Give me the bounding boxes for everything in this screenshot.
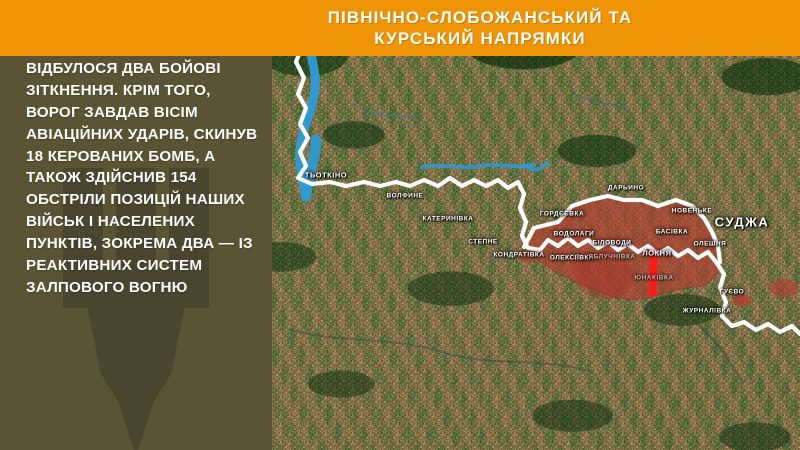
report-body-text: ВІДБУЛОСЯ ДВА БОЙОВІ ЗІТКНЕННЯ. КРІМ ТОГ… (26, 58, 262, 299)
page-title: ПІВНІЧНО-СЛОБОЖАНСЬКИЙ ТА КУРСЬКИЙ НАПРЯ… (168, 7, 633, 50)
page-title-line2: КУРСЬКИЙ НАПРЯМКИ (328, 28, 633, 49)
header-bar: ПІВНІЧНО-СЛОБОЖАНСЬКИЙ ТА КУРСЬКИЙ НАПРЯ… (0, 0, 800, 56)
infographic-page: ТЬОТКІНОВОЛФИНЕКАТЕРИНІВКАСТЕПНЕКОНДРАТІ… (0, 0, 800, 450)
state-border-line (272, 0, 800, 450)
page-title-line1: ПІВНІЧНО-СЛОБОЖАНСЬКИЙ ТА (328, 7, 633, 28)
satellite-map[interactable]: ТЬОТКІНОВОЛФИНЕКАТЕРИНІВКАСТЕПНЕКОНДРАТІ… (272, 0, 800, 450)
text-panel: ВІДБУЛОСЯ ДВА БОЙОВІ ЗІТКНЕННЯ. КРІМ ТОГ… (0, 0, 272, 450)
